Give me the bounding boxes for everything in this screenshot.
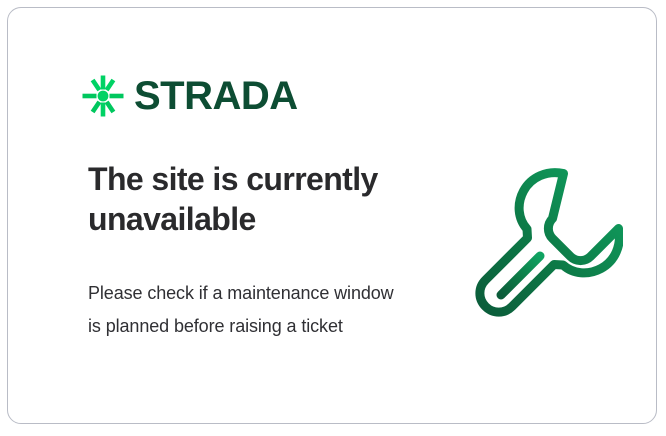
brand-lockup: STRADA (81, 74, 298, 118)
wrench-icon (463, 153, 623, 318)
page-description: Please check if a maintenance window is … (88, 277, 408, 343)
page-title: The site is currently unavailable (88, 160, 428, 239)
status-card: STRADA The site is currently unavailable… (7, 7, 657, 424)
error-page: STRADA The site is currently unavailable… (0, 0, 666, 436)
strada-asterisk-icon (81, 74, 125, 118)
brand-wordmark: STRADA (134, 76, 298, 116)
